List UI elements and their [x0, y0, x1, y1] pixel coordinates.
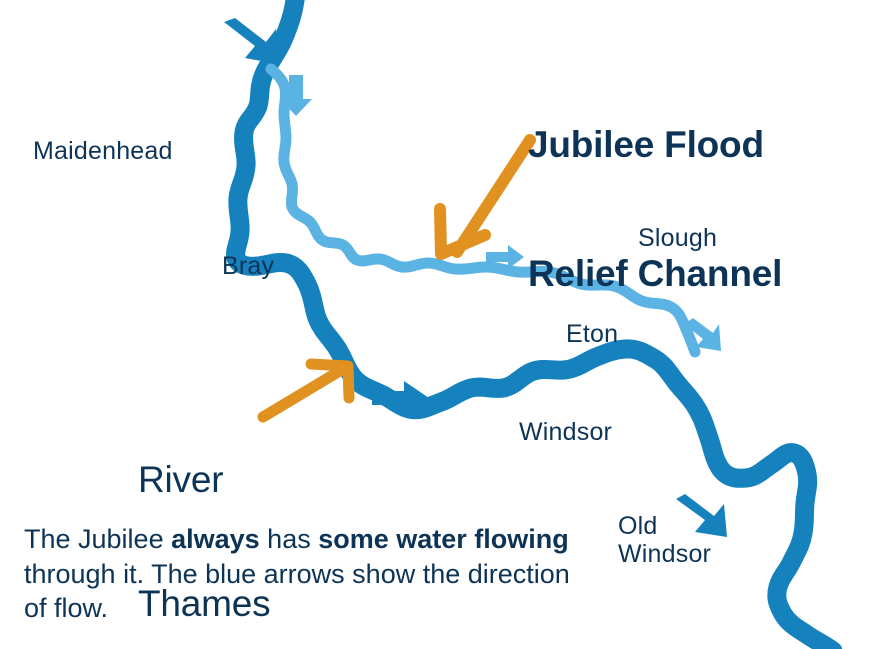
caption-text: The Jubilee always has some water flowin… — [24, 522, 594, 626]
place-label-bray: Bray — [222, 254, 274, 279]
caption-part-3: through it. The blue arrows show the dir… — [24, 559, 570, 624]
river-thames-label-line-1: River — [138, 459, 270, 500]
pointer-to-thames-icon — [263, 364, 349, 417]
place-label-old-windsor: Old Windsor — [618, 512, 711, 568]
caption-bold-2: some water flowing — [318, 524, 569, 554]
place-label-maidenhead: Maidenhead — [33, 139, 173, 164]
caption-bold-1: always — [171, 524, 260, 554]
place-label-slough: Slough — [638, 226, 717, 251]
flood-relief-channel-map: Jubilee Flood Relief Channel Maidenhead … — [0, 0, 882, 649]
place-label-windsor: Windsor — [519, 420, 612, 445]
place-label-eton: Eton — [566, 322, 618, 347]
caption-part-2: has — [260, 524, 319, 554]
pointer-to-channel-icon — [440, 140, 530, 254]
thames-flow-arrow-north-icon — [224, 18, 278, 64]
map-title-line-2: Relief Channel — [528, 253, 782, 296]
caption-part-1: The Jubilee — [24, 524, 171, 554]
map-title-line-1: Jubilee Flood — [528, 124, 782, 167]
